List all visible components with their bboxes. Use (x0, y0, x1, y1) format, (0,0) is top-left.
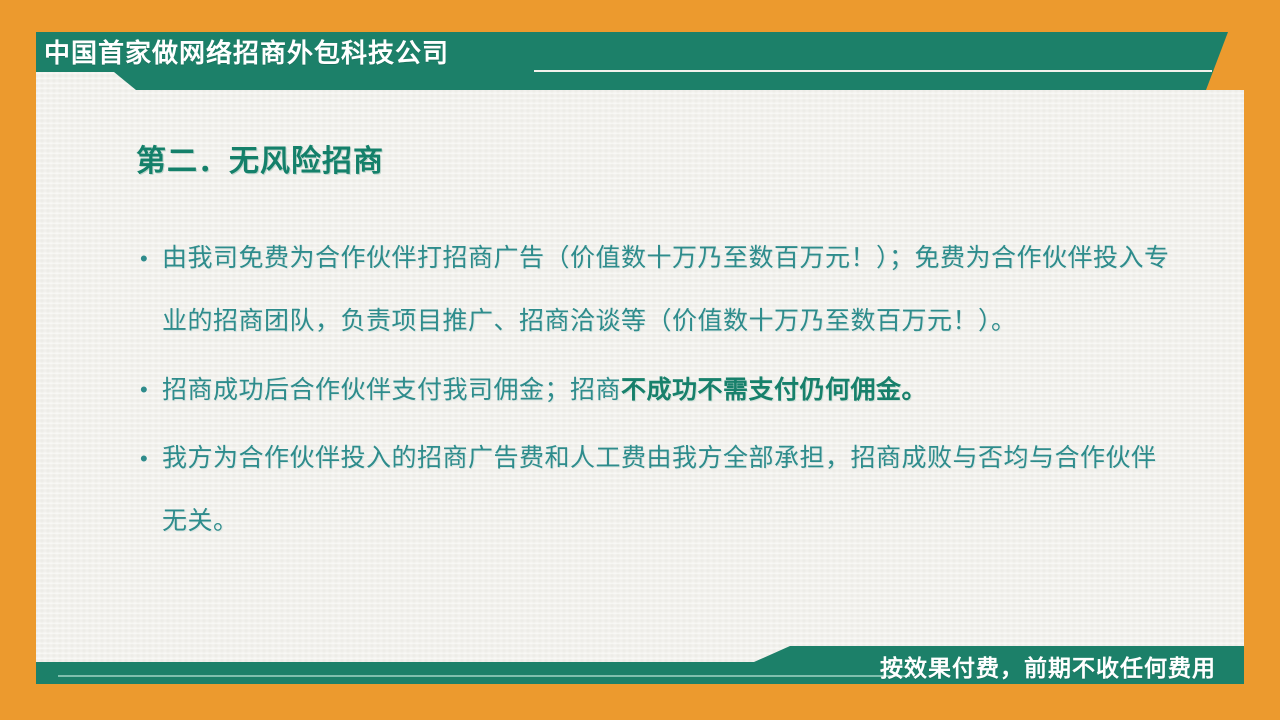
bullet-text-plain: 我方为合作伙伴投入的招商广告费和人工费由我方全部承担，招商成败与否均与合作伙伴无… (162, 445, 1157, 535)
slide: 中国首家做网络招商外包科技公司 第二．无风险招商 • 由我司免费为合作伙伴打招商… (0, 0, 1280, 720)
header-title: 中国首家做网络招商外包科技公司 (44, 36, 449, 70)
slide-header: 中国首家做网络招商外包科技公司 (36, 32, 1244, 90)
list-item: • 由我司免费为合作伙伴打招商广告（价值数十万乃至数百万元！）；免费为合作伙伴投… (140, 228, 1180, 353)
bullet-list: • 由我司免费为合作伙伴打招商广告（价值数十万乃至数百万元！）；免费为合作伙伴投… (140, 228, 1180, 559)
bullet-text: 由我司免费为合作伙伴打招商广告（价值数十万乃至数百万元！）；免费为合作伙伴投入专… (162, 228, 1180, 353)
bullet-text: 我方为合作伙伴投入的招商广告费和人工费由我方全部承担，招商成败与否均与合作伙伴无… (162, 428, 1180, 553)
list-item: • 我方为合作伙伴投入的招商广告费和人工费由我方全部承担，招商成败与否均与合作伙… (140, 428, 1180, 553)
bullet-text-plain: 由我司免费为合作伙伴打招商广告（价值数十万乃至数百万元！）；免费为合作伙伴投入专… (162, 245, 1170, 335)
list-item: • 招商成功后合作伙伴支付我司佣金；招商不成功不需支付仍何佣金。 (140, 359, 1180, 422)
bullet-marker-icon: • (140, 428, 162, 490)
bullet-text: 招商成功后合作伙伴支付我司佣金；招商不成功不需支付仍何佣金。 (162, 359, 1180, 422)
header-angled-band (36, 72, 1244, 90)
page-title: 第二．无风险招商 (136, 136, 384, 180)
bullet-marker-icon: • (140, 228, 162, 290)
header-hairline-rule (534, 70, 1212, 72)
bullet-marker-icon: • (140, 359, 162, 421)
footer-tagline: 按效果付费，前期不收任何费用 (880, 649, 1216, 683)
slide-footer: 按效果付费，前期不收任何费用 (36, 624, 1244, 684)
footer-hairline-rule (58, 675, 910, 677)
bullet-text-plain: 招商成功后合作伙伴支付我司佣金；招商 (162, 377, 621, 404)
bullet-text-emphasis: 不成功不需支付仍何佣金。 (621, 376, 927, 404)
